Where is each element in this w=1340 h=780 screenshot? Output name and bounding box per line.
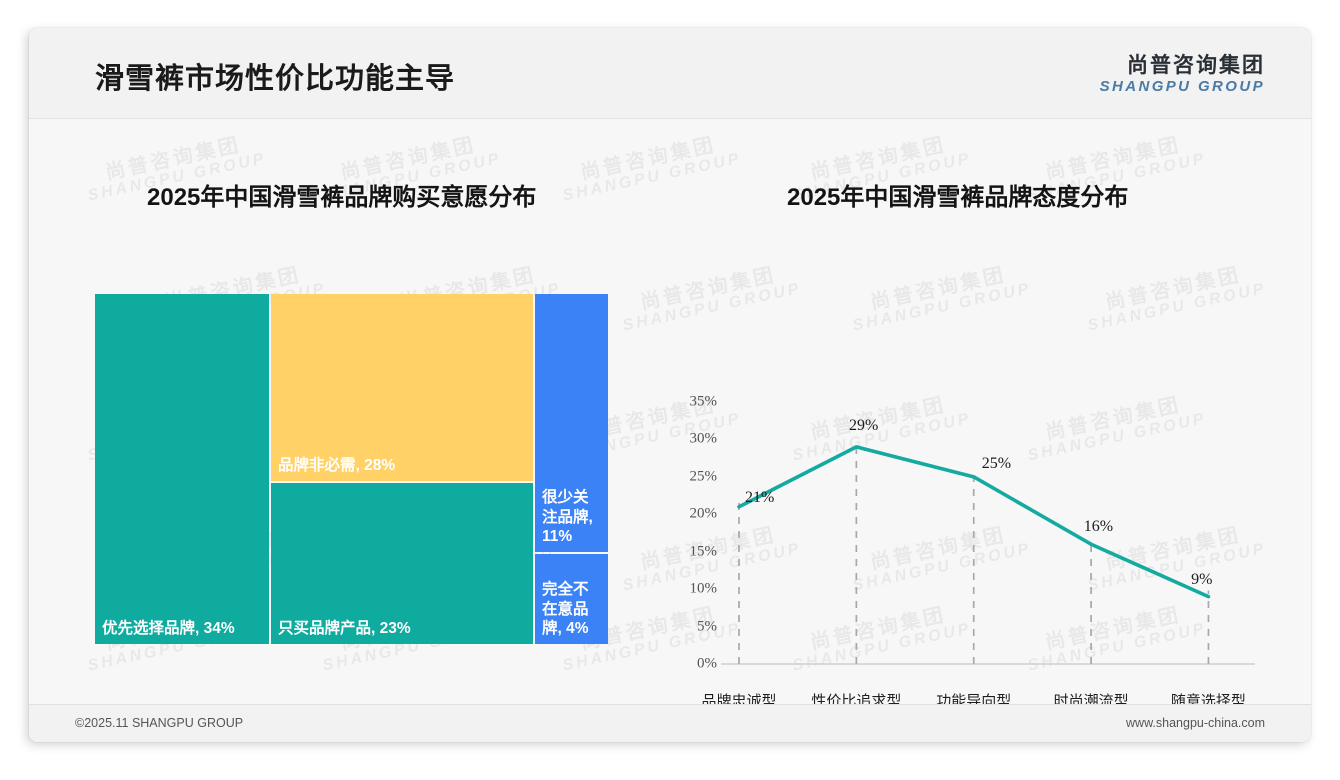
treemap-title: 2025年中国滑雪裤品牌购买意愿分布 bbox=[147, 177, 536, 212]
data-point-label: 9% bbox=[1191, 571, 1212, 589]
brand-name-en: SHANGPU GROUP bbox=[1100, 79, 1265, 94]
footer-website: www.shangpu-china.com bbox=[1126, 716, 1265, 730]
watermark: 尚普咨询集团SHANGPU GROUP bbox=[557, 130, 743, 205]
treemap-tile[interactable]: 很少关注品牌, 11% bbox=[535, 294, 608, 552]
treemap-tile[interactable]: 优先选择品牌, 34% bbox=[95, 294, 269, 644]
slide-body: 尚普咨询集团SHANGPU GROUP尚普咨询集团SHANGPU GROUP尚普… bbox=[29, 119, 1311, 704]
footer-copyright: ©2025.11 SHANGPU GROUP bbox=[75, 716, 243, 730]
brand-logo: 尚普咨询集团 SHANGPU GROUP bbox=[1100, 55, 1265, 94]
data-point-label: 16% bbox=[1084, 518, 1113, 536]
treemap-tile-label: 很少关注品牌, 11% bbox=[542, 488, 603, 547]
treemap-tile-label: 品牌非必需, 28% bbox=[278, 456, 395, 476]
slide-card: 滑雪裤市场性价比功能主导 尚普咨询集团 SHANGPU GROUP 尚普咨询集团… bbox=[29, 28, 1311, 742]
slide-footer: ©2025.11 SHANGPU GROUP www.shangpu-china… bbox=[29, 704, 1311, 742]
linechart-title: 2025年中国滑雪裤品牌态度分布 bbox=[787, 177, 1128, 212]
data-point-label: 25% bbox=[982, 455, 1011, 473]
treemap-tile[interactable]: 只买品牌产品, 23% bbox=[271, 483, 533, 644]
treemap-chart: 优先选择品牌, 34%品牌非必需, 28%只买品牌产品, 23%很少关注品牌, … bbox=[95, 294, 608, 644]
treemap-tile[interactable]: 品牌非必需, 28% bbox=[271, 294, 533, 481]
brand-name-cn: 尚普咨询集团 bbox=[1100, 55, 1265, 76]
line-chart: 0%5%10%15%20%25%30%35%21%29%25%16%9%品牌忠诚… bbox=[659, 294, 1259, 714]
data-point-label: 21% bbox=[745, 489, 774, 507]
page-title: 滑雪裤市场性价比功能主导 bbox=[95, 55, 455, 97]
treemap-tile-label: 完全不在意品牌, 4% bbox=[542, 580, 603, 639]
treemap-tile-label: 只买品牌产品, 23% bbox=[278, 619, 411, 639]
slide-header: 滑雪裤市场性价比功能主导 尚普咨询集团 SHANGPU GROUP bbox=[29, 28, 1311, 119]
treemap-tile-label: 优先选择品牌, 34% bbox=[102, 619, 235, 639]
treemap-tile[interactable]: 完全不在意品牌, 4% bbox=[535, 554, 608, 644]
page-root: 滑雪裤市场性价比功能主导 尚普咨询集团 SHANGPU GROUP 尚普咨询集团… bbox=[0, 0, 1340, 780]
data-point-label: 29% bbox=[849, 417, 878, 435]
